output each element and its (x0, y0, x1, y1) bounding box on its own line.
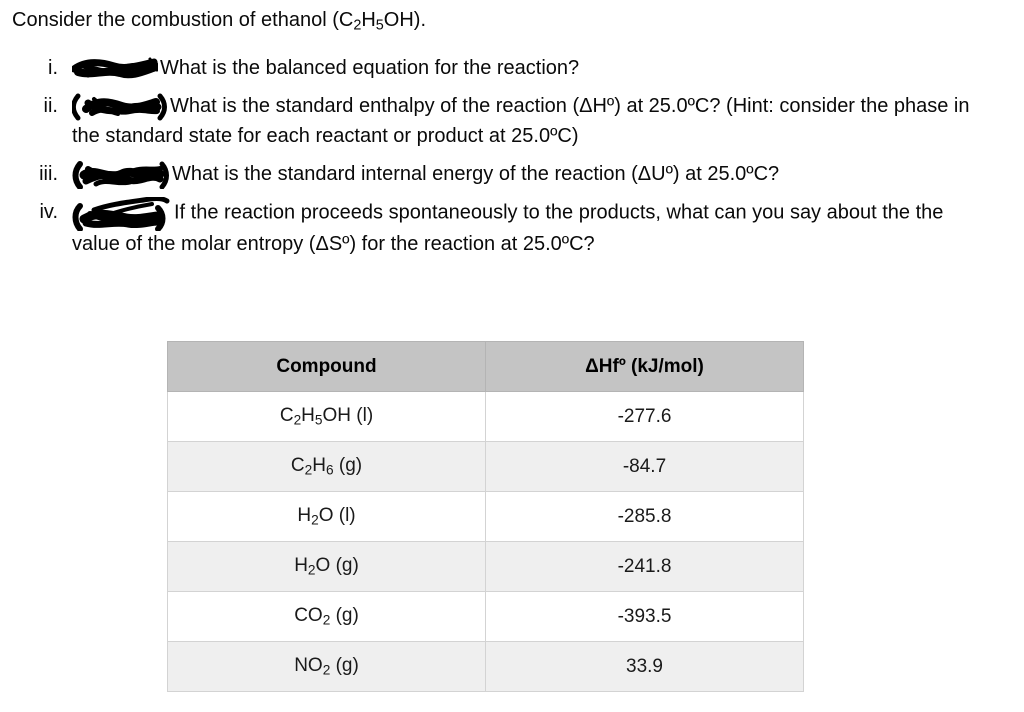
question-item-i: i. What is the balanced equation for the… (0, 53, 1010, 83)
column-header-compound-label: Compound (276, 356, 376, 377)
question-marker-i: i. (0, 53, 72, 83)
redaction-scribble-i (72, 56, 158, 82)
question-body-iv: If the reaction proceeds spontaneously t… (72, 197, 977, 259)
redaction-scribble-iv (72, 197, 172, 229)
cell-compound: H2O (g) (168, 542, 486, 592)
table-body: C2H5OH (l) -277.6 C2H6 (g) -84.7 H2O (l)… (168, 392, 804, 692)
column-header-enthalpy: ΔHfº (kJ/mol) (486, 342, 804, 392)
cell-compound: NO2 (g) (168, 642, 486, 692)
column-header-compound: Compound (168, 342, 486, 392)
intro-subscript-5: 5 (376, 18, 384, 34)
redaction-scribble-iii (72, 161, 170, 189)
table-row: C2H6 (g) -84.7 (168, 442, 804, 492)
table-row: H2O (g) -241.8 (168, 542, 804, 592)
question-marker-ii: ii. (0, 91, 72, 121)
question-list: i. What is the balanced equation for the… (0, 53, 1010, 267)
question-text-ii: What is the standard enthalpy of the rea… (72, 95, 970, 147)
question-text-iii: What is the standard internal energy of … (172, 163, 779, 185)
cell-enthalpy: 33.9 (486, 642, 804, 692)
question-body-iii: What is the standard internal energy of … (72, 159, 977, 189)
table-row: NO2 (g) 33.9 (168, 642, 804, 692)
redaction-scribble-ii (72, 93, 168, 121)
table-row: C2H5OH (l) -277.6 (168, 392, 804, 442)
enthalpy-table: Compound ΔHfº (kJ/mol) C2H5OH (l) -277.6… (167, 341, 804, 692)
question-item-iv: iv. If the reaction proceeds spontaneous… (0, 197, 1010, 259)
cell-enthalpy: -84.7 (486, 442, 804, 492)
table-row: H2O (l) -285.8 (168, 492, 804, 542)
cell-enthalpy: -285.8 (486, 492, 804, 542)
cell-compound: H2O (l) (168, 492, 486, 542)
question-body-i: What is the balanced equation for the re… (72, 53, 977, 83)
cell-compound: CO2 (g) (168, 592, 486, 642)
question-item-iii: iii. What is the standard internal energ… (0, 159, 1010, 189)
enthalpy-table-container: Compound ΔHfº (kJ/mol) C2H5OH (l) -277.6… (167, 341, 803, 692)
question-marker-iii: iii. (0, 159, 72, 189)
question-marker-iv: iv. (0, 197, 72, 227)
intro-text-after: OH). (384, 9, 426, 31)
question-body-ii: What is the standard enthalpy of the rea… (72, 91, 977, 151)
cell-enthalpy: -241.8 (486, 542, 804, 592)
cell-compound: C2H5OH (l) (168, 392, 486, 442)
cell-enthalpy: -393.5 (486, 592, 804, 642)
cell-compound: C2H6 (g) (168, 442, 486, 492)
table-header-row: Compound ΔHfº (kJ/mol) (168, 342, 804, 392)
intro-text-mid: H (361, 9, 375, 31)
question-text-i: What is the balanced equation for the re… (160, 57, 579, 79)
page-intro-line: Consider the combustion of ethanol (C2H5… (12, 6, 426, 40)
question-item-ii: ii. What is the standard enthalpy of the… (0, 91, 1010, 151)
column-header-enthalpy-label: ΔHfº (kJ/mol) (585, 356, 704, 377)
question-text-iv: If the reaction proceeds spontaneously t… (72, 201, 943, 255)
table-row: CO2 (g) -393.5 (168, 592, 804, 642)
intro-text-before: Consider the combustion of ethanol (C (12, 9, 353, 31)
table-header: Compound ΔHfº (kJ/mol) (168, 342, 804, 392)
cell-enthalpy: -277.6 (486, 392, 804, 442)
